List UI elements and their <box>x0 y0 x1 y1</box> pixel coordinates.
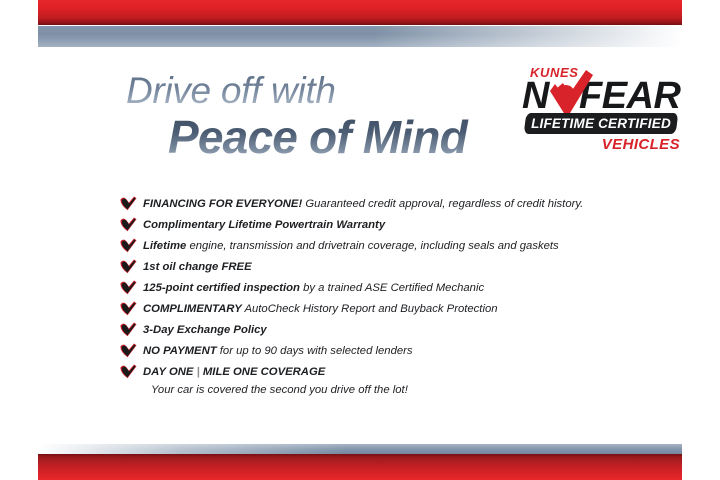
list-item-text: 1st oil change FREE <box>143 257 640 278</box>
red-check-bullet-icon <box>120 343 137 358</box>
logo-wordmark: N FEAR <box>522 76 684 116</box>
bottom-gray-band <box>38 444 682 454</box>
red-check-bullet-icon <box>120 259 137 274</box>
red-check-bullet-icon <box>120 301 137 316</box>
list-item: 3-Day Exchange Policy <box>120 320 640 341</box>
logo-vehicles-text: VEHICLES <box>602 136 680 153</box>
list-item-separator: | <box>197 366 200 378</box>
list-item-rest: AutoCheck History Report and Buyback Pro… <box>242 303 498 315</box>
list-item-lead: 125-point certified inspection <box>143 282 300 294</box>
list-item-rest: by a trained ASE Certified Mechanic <box>300 282 484 294</box>
list-item: FINANCING FOR EVERYONE! Guaranteed credi… <box>120 194 640 215</box>
list-item-lead: 1st oil change FREE <box>143 261 252 273</box>
list-item-lead: FINANCING FOR EVERYONE! <box>143 198 302 210</box>
certified-vehicles-flyer: Drive off with Peace of Mind KUNES N FEA… <box>0 0 720 480</box>
list-item-lead-secondary: MILE ONE COVERAGE <box>203 366 325 378</box>
logo-certified-banner-text: LIFETIME CERTIFIED <box>525 113 677 134</box>
list-item: 125-point certified inspection by a trai… <box>120 278 640 299</box>
list-item-lead: Lifetime <box>143 240 186 252</box>
list-item-lead: COMPLIMENTARY <box>143 303 242 315</box>
headline: Drive off with Peace of Mind <box>126 72 506 161</box>
list-item-subtext: Your car is covered the second you drive… <box>143 383 640 398</box>
list-item-lead: Complimentary Lifetime Powertrain Warran… <box>143 219 385 231</box>
red-check-bullet-icon <box>120 196 137 211</box>
red-check-bullet-icon <box>120 217 137 232</box>
list-item-rest: Guaranteed credit approval, regardless o… <box>302 198 583 210</box>
list-item-lead: NO PAYMENT <box>143 345 217 357</box>
logo-word-fear: FEAR <box>579 76 680 116</box>
list-item-lead: DAY ONE <box>143 366 193 378</box>
logo-certified-banner: LIFETIME CERTIFIED <box>524 113 679 134</box>
list-item: Lifetime engine, transmission and drivet… <box>120 236 640 257</box>
list-item-text: NO PAYMENT for up to 90 days with select… <box>143 341 640 362</box>
list-item-text: COMPLIMENTARY AutoCheck History Report a… <box>143 299 640 320</box>
list-item-text: Lifetime engine, transmission and drivet… <box>143 236 640 257</box>
bottom-red-band <box>38 454 682 480</box>
logo-letter-n: N <box>522 76 548 116</box>
list-item: Complimentary Lifetime Powertrain Warran… <box>120 215 640 236</box>
top-red-band <box>38 0 682 25</box>
red-check-bullet-icon <box>120 364 137 379</box>
kunes-no-fear-logo: KUNES N FEAR LIFETIME CERTIFIED VEHICLES <box>498 62 684 162</box>
list-item-text: Complimentary Lifetime Powertrain Warran… <box>143 215 640 236</box>
red-check-bullet-icon <box>120 238 137 253</box>
list-item: 1st oil change FREE <box>120 257 640 278</box>
list-item-rest: for up to 90 days with selected lenders <box>217 345 413 357</box>
list-item: COMPLIMENTARY AutoCheck History Report a… <box>120 299 640 320</box>
list-item-lead: 3-Day Exchange Policy <box>143 324 267 336</box>
list-item: NO PAYMENT for up to 90 days with select… <box>120 341 640 362</box>
list-item-text: DAY ONE | MILE ONE COVERAGE <box>143 362 640 383</box>
top-gray-band <box>38 26 682 47</box>
red-check-bullet-icon <box>120 322 137 337</box>
list-item-text: 3-Day Exchange Policy <box>143 320 640 341</box>
headline-line-2: Peace of Mind <box>168 113 506 161</box>
headline-line-1: Drive off with <box>126 72 506 109</box>
list-item-text: 125-point certified inspection by a trai… <box>143 278 640 299</box>
list-item-rest: engine, transmission and drivetrain cove… <box>186 240 558 252</box>
list-item: DAY ONE | MILE ONE COVERAGE Your car is … <box>120 362 640 398</box>
list-item-text: FINANCING FOR EVERYONE! Guaranteed credi… <box>143 194 640 215</box>
benefits-list: FINANCING FOR EVERYONE! Guaranteed credi… <box>120 194 640 398</box>
red-check-bullet-icon <box>120 280 137 295</box>
